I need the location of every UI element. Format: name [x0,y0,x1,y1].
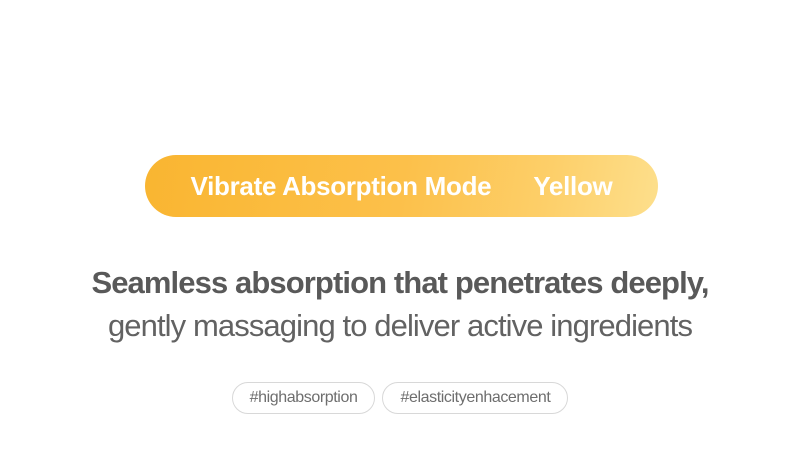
headline: Seamless absorption that penetrates deep… [0,262,800,348]
tag-list: #highabsorption #elasticityenhacement [0,382,800,414]
tag-chip-label: #elasticityenhacement [400,390,550,406]
tag-chip-label: #highabsorption [250,390,358,406]
headline-line-2: gently massaging to deliver active ingre… [0,304,800,348]
headline-line-1: Seamless absorption that penetrates deep… [0,262,800,304]
mode-pill-value: Yellow [533,173,612,199]
mode-pill-label: Vibrate Absorption Mode [191,173,492,199]
vibrate-absorption-mode-pill[interactable]: Vibrate Absorption Mode Yellow [145,155,658,217]
tag-chip-elasticity-enhacement[interactable]: #elasticityenhacement [382,382,568,414]
tag-chip-high-absorption[interactable]: #highabsorption [232,382,376,414]
promo-panel: Vibrate Absorption Mode Yellow Seamless … [0,0,800,469]
